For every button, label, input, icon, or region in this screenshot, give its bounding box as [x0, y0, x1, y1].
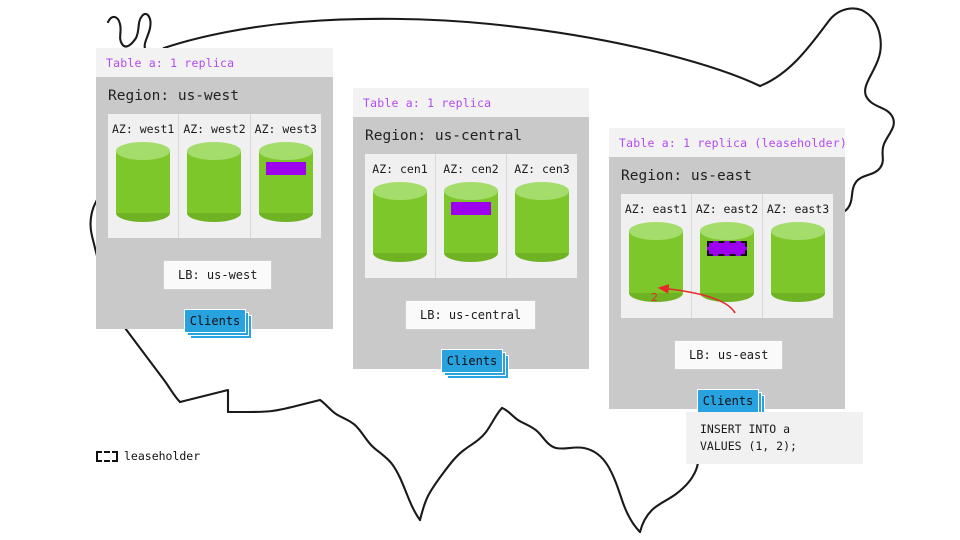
load-balancer-us-central[interactable]: LB: us-central [405, 300, 536, 330]
cylinder-top [771, 222, 825, 240]
load-balancer-us-west[interactable]: LB: us-west [163, 260, 272, 290]
node-cylinder-cen1[interactable] [373, 182, 427, 262]
table-band-us-east: Table a: 1 replica (leaseholder) [609, 128, 845, 157]
az-cell-east2[interactable]: AZ: east2 [691, 194, 762, 318]
cylinder-top [629, 222, 683, 240]
us-texas-border [420, 408, 502, 520]
table-band-us-west: Table a: 1 replica [96, 48, 333, 77]
az-cell-west3[interactable]: AZ: west3 [250, 114, 321, 238]
legend-label: leaseholder [124, 449, 200, 463]
node-cylinder-west2[interactable] [187, 142, 241, 222]
az-row-us-central: AZ: cen1 AZ: cen2 AZ: cen3 [365, 154, 577, 278]
cylinder-body [629, 231, 683, 293]
az-cell-cen1[interactable]: AZ: cen1 [365, 154, 435, 278]
node-cylinder-cen2[interactable] [444, 182, 498, 262]
leaseholder-replica-marker-east2 [707, 241, 747, 256]
cylinder-body [771, 231, 825, 293]
cylinder-top [444, 182, 498, 200]
cylinder-top [515, 182, 569, 200]
replica-marker-west3 [266, 162, 306, 175]
us-rio-grande [320, 400, 420, 520]
clients-stack-us-east[interactable]: Clients [697, 389, 759, 413]
cylinder-body [373, 191, 427, 253]
az-cell-east3[interactable]: AZ: east3 [762, 194, 833, 318]
az-label-cen3: AZ: cen3 [507, 162, 577, 176]
cylinder-top [700, 222, 754, 240]
sql-statement-box: INSERT INTO a VALUES (1, 2); [686, 412, 863, 464]
annotation-step-number: 2 [651, 291, 658, 304]
az-label-cen2: AZ: cen2 [436, 162, 506, 176]
node-cylinder-east2[interactable] [700, 222, 754, 302]
us-southwest-border [228, 400, 320, 412]
region-title-us-west: Region: us-west [96, 77, 333, 114]
table-band-us-central: Table a: 1 replica [353, 88, 589, 117]
az-label-east1: AZ: east1 [621, 202, 691, 216]
region-body-us-central: Region: us-central AZ: cen1 AZ: cen2 [353, 117, 589, 369]
us-california-border [180, 390, 228, 412]
clients-stack-us-west[interactable]: Clients [184, 309, 246, 333]
clients-button-us-west[interactable]: Clients [184, 309, 246, 333]
az-cell-cen3[interactable]: AZ: cen3 [506, 154, 577, 278]
leaseholder-swatch-icon [96, 451, 118, 462]
node-cylinder-east1[interactable] [629, 222, 683, 302]
az-row-us-west: AZ: west1 AZ: west2 AZ: west3 [108, 114, 321, 238]
az-cell-west2[interactable]: AZ: west2 [178, 114, 249, 238]
node-cylinder-west1[interactable] [116, 142, 170, 222]
az-label-west1: AZ: west1 [108, 122, 178, 136]
replica-marker-cen2 [451, 202, 491, 215]
region-panel-us-central: Table a: 1 replica Region: us-central AZ… [353, 88, 589, 369]
us-gulf-coast [502, 408, 640, 532]
cylinder-body [444, 191, 498, 253]
az-label-west3: AZ: west3 [251, 122, 321, 136]
region-body-us-east: Region: us-east AZ: east1 AZ: east2 [609, 157, 845, 409]
az-label-east2: AZ: east2 [692, 202, 762, 216]
clients-stack-us-central[interactable]: Clients [441, 349, 503, 373]
cylinder-body [116, 151, 170, 213]
az-label-west2: AZ: west2 [179, 122, 249, 136]
legend-leaseholder: leaseholder [96, 449, 200, 463]
cylinder-body [187, 151, 241, 213]
region-panel-us-east: Table a: 1 replica (leaseholder) Region:… [609, 128, 845, 409]
az-cell-cen2[interactable]: AZ: cen2 [435, 154, 506, 278]
az-cell-west1[interactable]: AZ: west1 [108, 114, 178, 238]
region-title-us-east: Region: us-east [609, 157, 845, 194]
cylinder-top [373, 182, 427, 200]
clients-button-us-east[interactable]: Clients [697, 389, 759, 413]
az-label-east3: AZ: east3 [763, 202, 833, 216]
node-cylinder-west3[interactable] [259, 142, 313, 222]
region-body-us-west: Region: us-west AZ: west1 AZ: west2 [96, 77, 333, 329]
region-panel-us-west: Table a: 1 replica Region: us-west AZ: w… [96, 48, 333, 329]
load-balancer-us-east[interactable]: LB: us-east [674, 340, 783, 370]
cylinder-body [515, 191, 569, 253]
cylinder-top [259, 142, 313, 160]
cylinder-body [259, 151, 313, 213]
clients-button-us-central[interactable]: Clients [441, 349, 503, 373]
node-cylinder-east3[interactable] [771, 222, 825, 302]
az-label-cen1: AZ: cen1 [365, 162, 435, 176]
region-title-us-central: Region: us-central [353, 117, 589, 154]
node-cylinder-cen3[interactable] [515, 182, 569, 262]
cylinder-top [116, 142, 170, 160]
